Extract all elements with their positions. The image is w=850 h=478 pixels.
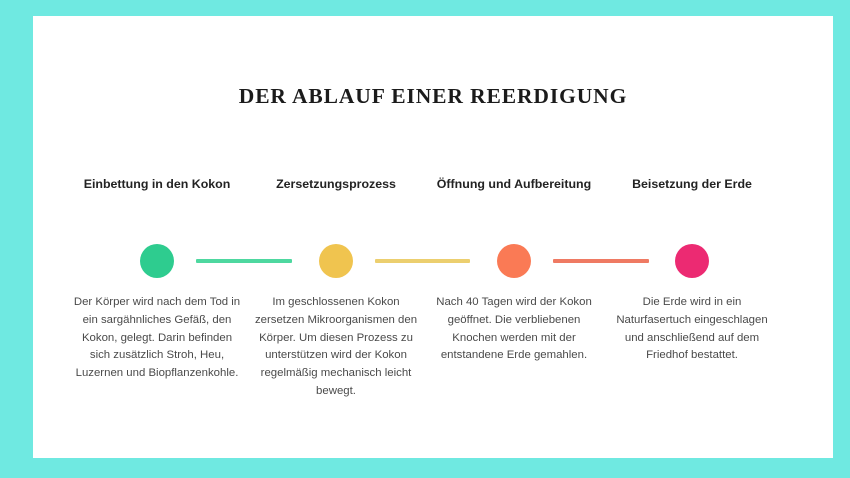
- timeline-step-3: Öffnung und Aufbereitung Nach 40 Tagen w…: [425, 16, 603, 458]
- poster-frame: DER ABLAUF EINER REERDIGUNG Einbettung i…: [0, 0, 850, 478]
- step-heading: Einbettung in den Kokon: [62, 176, 252, 192]
- step-dot: [140, 244, 174, 278]
- step-dot: [497, 244, 531, 278]
- step-description: Im geschlossenen Kokon zersetzen Mikroor…: [250, 294, 422, 401]
- step-dot: [675, 244, 709, 278]
- poster-canvas: DER ABLAUF EINER REERDIGUNG Einbettung i…: [33, 16, 833, 458]
- step-heading: Öffnung und Aufbereitung: [419, 176, 609, 192]
- step-heading: Zersetzungsprozess: [241, 176, 431, 192]
- step-heading: Beisetzung der Erde: [597, 176, 787, 192]
- step-description: Der Körper wird nach dem Tod in ein sarg…: [71, 294, 243, 383]
- step-description: Nach 40 Tagen wird der Kokon geöffnet. D…: [428, 294, 600, 365]
- timeline-step-1: Einbettung in den Kokon Der Körper wird …: [68, 16, 246, 458]
- step-dot: [319, 244, 353, 278]
- timeline-step-4: Beisetzung der Erde Die Erde wird in ein…: [603, 16, 781, 458]
- timeline-step-2: Zersetzungsprozess Im geschlossenen Koko…: [247, 16, 425, 458]
- step-description: Die Erde wird in ein Naturfasertuch eing…: [606, 294, 778, 365]
- timeline: Einbettung in den Kokon Der Körper wird …: [33, 16, 833, 458]
